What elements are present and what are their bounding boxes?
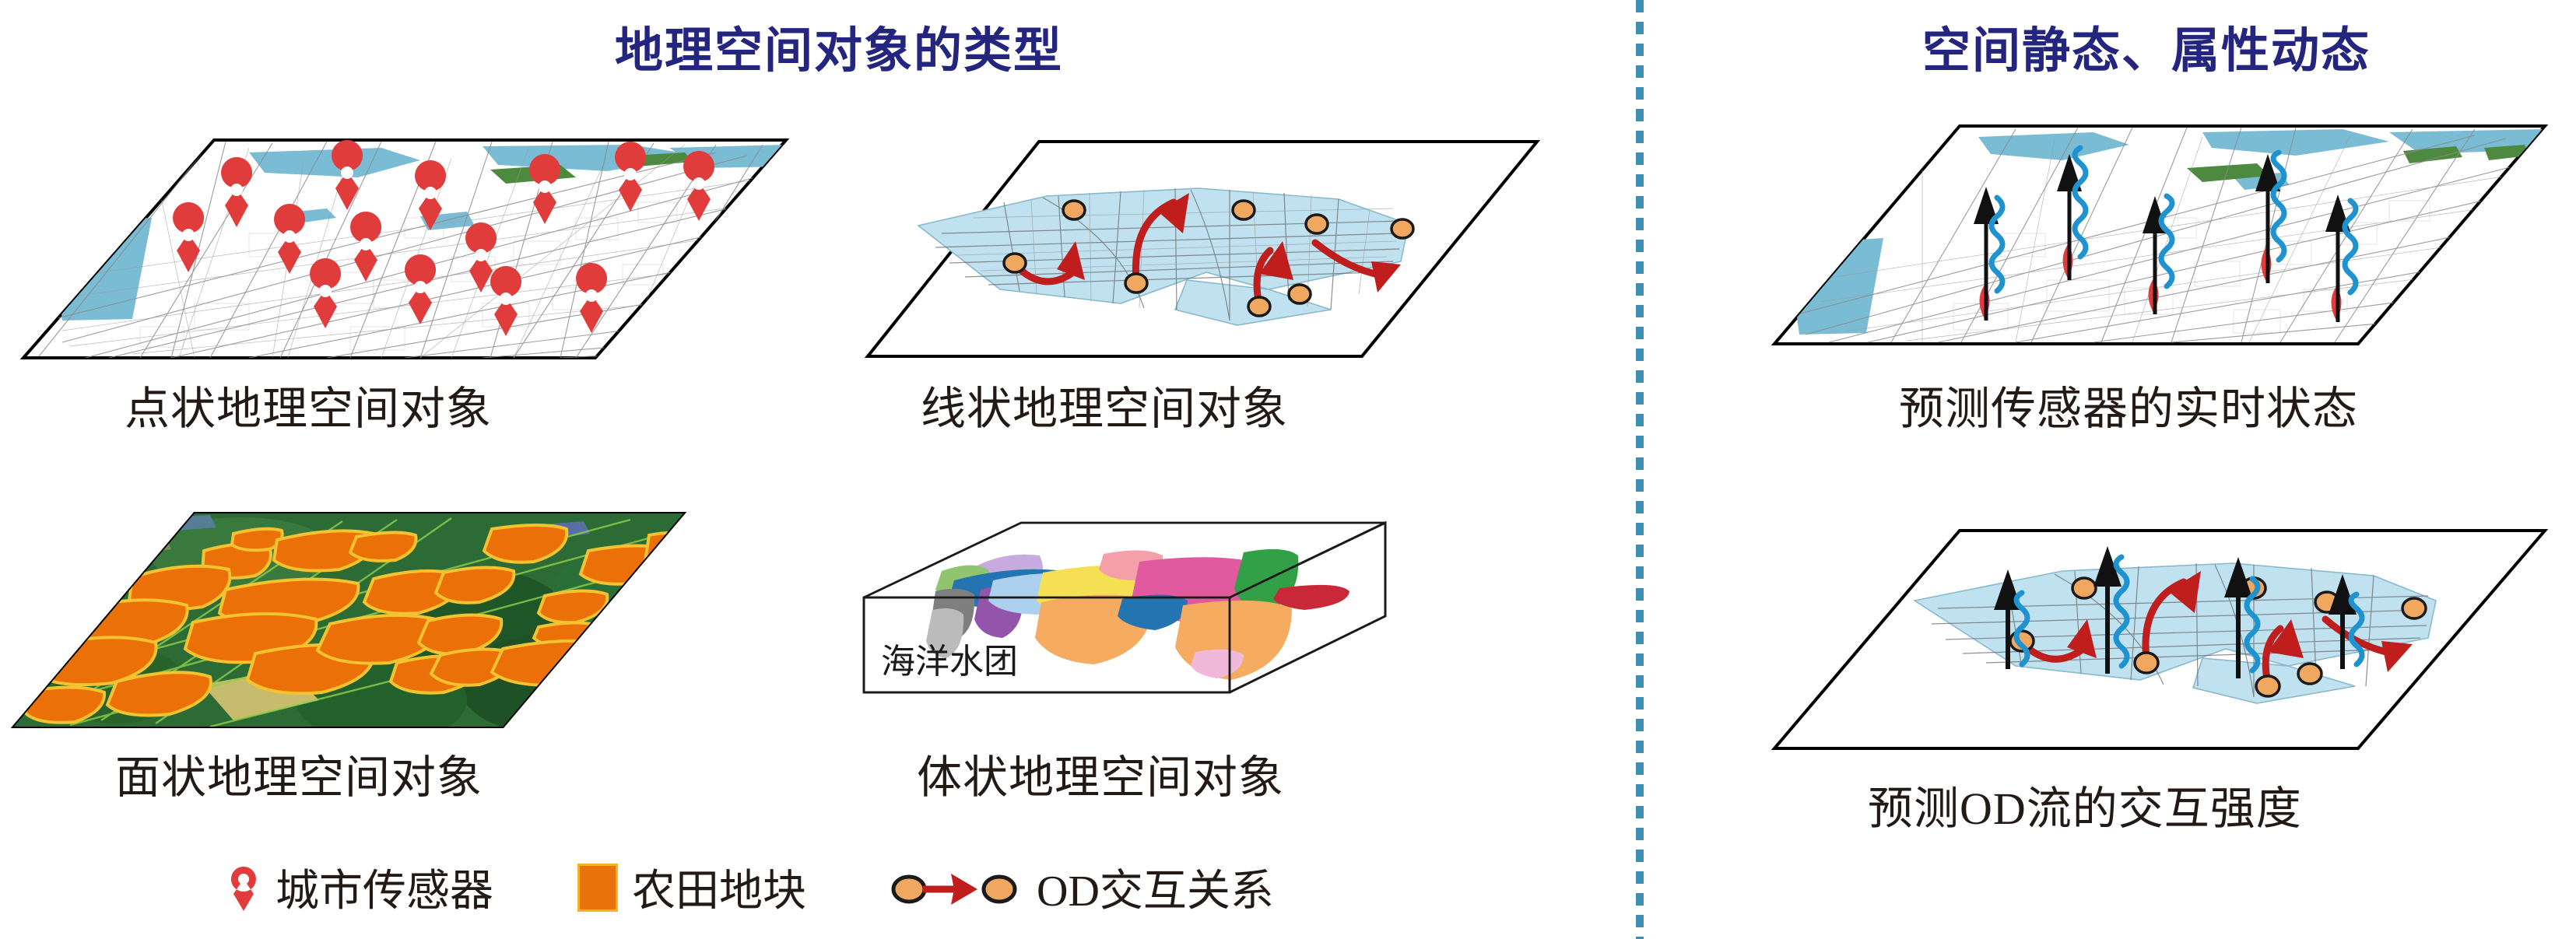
map-pin-icon	[226, 864, 261, 912]
legend-label-farmland: 农田地块	[632, 856, 806, 919]
satellite-basemap	[8, 506, 693, 739]
panel-volume-objects: 海洋水团	[794, 513, 1409, 739]
column-divider	[1636, 0, 1644, 939]
caption-volume-objects: 体状地理空间对象	[917, 741, 1284, 806]
volume-inner-label: 海洋水团	[881, 643, 1018, 681]
panel-line-objects	[864, 124, 1541, 373]
legend: 城市传感器 农田地块 OD交互关系	[226, 856, 1274, 919]
panel-od-forecast	[1689, 513, 2553, 770]
caption-area-objects: 面状地理空间对象	[115, 741, 483, 806]
od-flow-icon	[890, 864, 1023, 911]
legend-label-sensor: 城市传感器	[275, 856, 493, 919]
caption-point-objects: 点状地理空间对象	[125, 372, 492, 437]
caption-od-forecast: 预测OD流的交互强度	[1868, 772, 2302, 837]
legend-label-od: OD交互关系	[1037, 856, 1274, 919]
left-column-title: 地理空间对象的类型	[615, 11, 1063, 81]
panel-sensor-forecast	[1689, 109, 2553, 366]
legend-item-od: OD交互关系	[890, 856, 1274, 919]
right-column-title: 空间静态、属性动态	[1922, 11, 2371, 81]
panel-area-objects	[8, 506, 693, 739]
legend-item-sensor: 城市传感器	[226, 856, 493, 919]
caption-line-objects: 线状地理空间对象	[921, 372, 1288, 437]
panel-point-objects	[16, 124, 794, 373]
caption-sensor-forecast: 预测传感器的实时状态	[1899, 372, 2358, 437]
legend-item-farmland: 农田地块	[577, 856, 806, 919]
orange-square-icon	[577, 864, 618, 912]
